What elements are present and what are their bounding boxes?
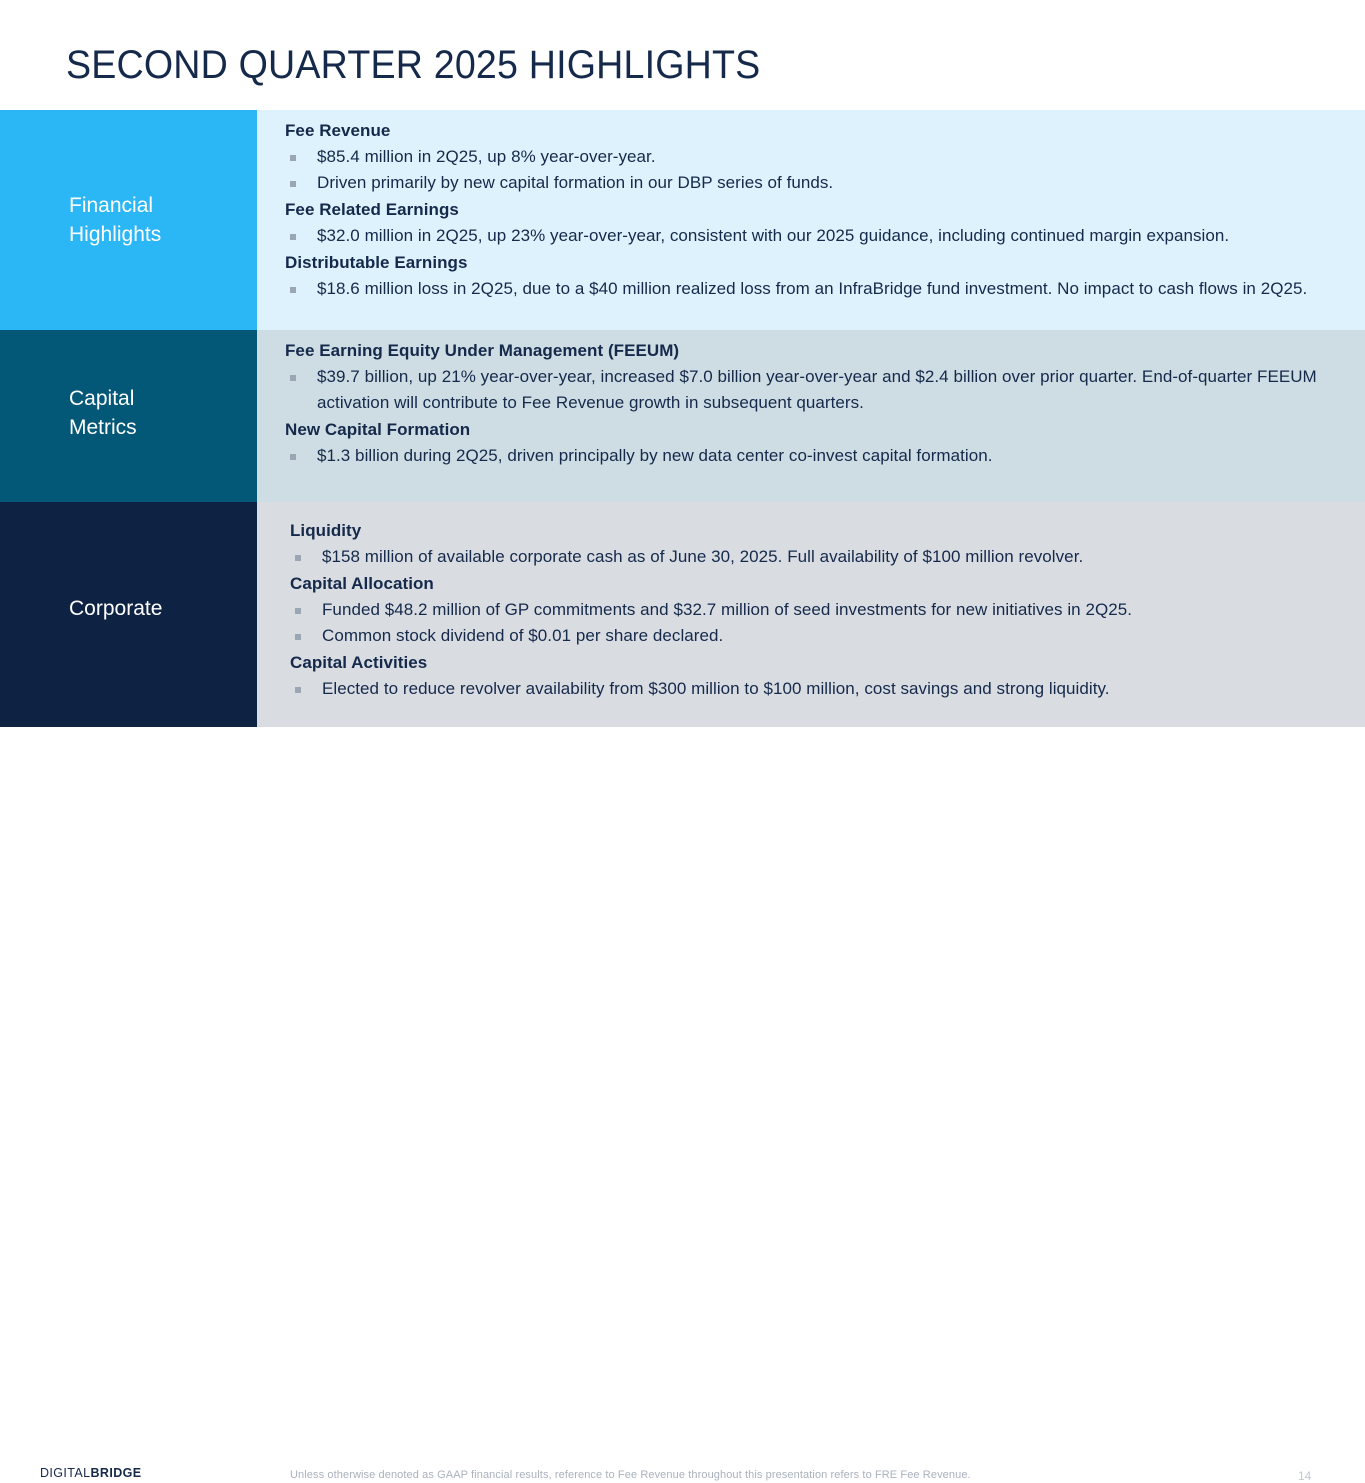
band-label-corporate: Corporate <box>0 502 257 727</box>
list-item-text: $158 million of available corporate cash… <box>322 544 1351 570</box>
group-heading: Capital Activities <box>290 649 1351 676</box>
logo-text-bold: BRIDGE <box>91 1466 142 1480</box>
list-item: $39.7 billion, up 21% year-over-year, in… <box>285 364 1351 416</box>
square-bullet-icon <box>290 623 322 640</box>
list-item: $158 million of available corporate cash… <box>290 544 1351 570</box>
square-bullet-icon <box>290 544 322 561</box>
content-list: Fee Revenue $85.4 million in 2Q25, up 8%… <box>285 110 1351 302</box>
list-item-text: $85.4 million in 2Q25, up 8% year-over-y… <box>317 144 1351 170</box>
slide-footer: DIGITALBRIDGE Unless otherwise denoted a… <box>0 727 1365 768</box>
band-financial-highlights: Financial Highlights Fee Revenue $85.4 m… <box>0 110 1365 330</box>
list-item-text: Driven primarily by new capital formatio… <box>317 170 1351 196</box>
list-item-text: Funded $48.2 million of GP commitments a… <box>322 597 1351 623</box>
page-title: SECOND QUARTER 2025 HIGHLIGHTS <box>66 40 760 90</box>
list-item: Driven primarily by new capital formatio… <box>285 170 1351 196</box>
list-item-text: $32.0 million in 2Q25, up 23% year-over-… <box>317 223 1351 249</box>
square-bullet-icon <box>285 443 317 460</box>
square-bullet-icon <box>285 223 317 240</box>
list-item-text: $18.6 million loss in 2Q25, due to a $40… <box>317 276 1351 302</box>
square-bullet-icon <box>285 364 317 381</box>
group-heading: Fee Earning Equity Under Management (FEE… <box>285 337 1351 364</box>
band-label-text: Capital Metrics <box>69 384 137 442</box>
slide: SECOND QUARTER 2025 HIGHLIGHTS Financial… <box>0 0 1365 768</box>
logo-text-light: DIGITAL <box>40 1466 91 1480</box>
band-label-capital-metrics: Capital Metrics <box>0 330 257 502</box>
list-item: $85.4 million in 2Q25, up 8% year-over-y… <box>285 144 1351 170</box>
group-heading: Capital Allocation <box>290 570 1351 597</box>
content-list: Liquidity $158 million of available corp… <box>285 502 1351 702</box>
band-label-financial-highlights: Financial Highlights <box>0 110 257 330</box>
band-corporate: Corporate Liquidity $158 million of avai… <box>0 502 1365 727</box>
list-item: $1.3 billion during 2Q25, driven princip… <box>285 443 1351 469</box>
square-bullet-icon <box>285 276 317 293</box>
square-bullet-icon <box>290 597 322 614</box>
square-bullet-icon <box>285 144 317 161</box>
band-label-text: Financial Highlights <box>69 191 161 249</box>
list-item: $18.6 million loss in 2Q25, due to a $40… <box>285 276 1351 302</box>
square-bullet-icon <box>290 676 322 693</box>
band-body-financial-highlights: Fee Revenue $85.4 million in 2Q25, up 8%… <box>257 110 1365 330</box>
page-number: 14 <box>1298 1469 1311 1483</box>
band-label-text: Corporate <box>69 594 162 623</box>
band-body-corporate: Liquidity $158 million of available corp… <box>257 502 1365 727</box>
content-list: Fee Earning Equity Under Management (FEE… <box>285 330 1351 469</box>
list-item: Common stock dividend of $0.01 per share… <box>290 623 1351 649</box>
square-bullet-icon <box>285 170 317 187</box>
group-heading: Fee Related Earnings <box>285 196 1351 223</box>
list-item: Elected to reduce revolver availability … <box>290 676 1351 702</box>
list-item-text: Elected to reduce revolver availability … <box>322 676 1351 702</box>
title-area: SECOND QUARTER 2025 HIGHLIGHTS <box>0 0 1365 110</box>
list-item: $32.0 million in 2Q25, up 23% year-over-… <box>285 223 1351 249</box>
group-heading: Liquidity <box>290 517 1351 544</box>
list-item-text: Common stock dividend of $0.01 per share… <box>322 623 1351 649</box>
list-item-text: $39.7 billion, up 21% year-over-year, in… <box>317 364 1351 416</box>
group-heading: New Capital Formation <box>285 416 1351 443</box>
band-capital-metrics: Capital Metrics Fee Earning Equity Under… <box>0 330 1365 502</box>
footnote-disclaimer: Unless otherwise denoted as GAAP financi… <box>290 1468 971 1482</box>
group-heading: Fee Revenue <box>285 117 1351 144</box>
band-body-capital-metrics: Fee Earning Equity Under Management (FEE… <box>257 330 1365 502</box>
group-heading: Distributable Earnings <box>285 249 1351 276</box>
list-item: Funded $48.2 million of GP commitments a… <box>290 597 1351 623</box>
digitalbridge-logo: DIGITALBRIDGE <box>40 1466 142 1480</box>
list-item-text: $1.3 billion during 2Q25, driven princip… <box>317 443 1351 469</box>
